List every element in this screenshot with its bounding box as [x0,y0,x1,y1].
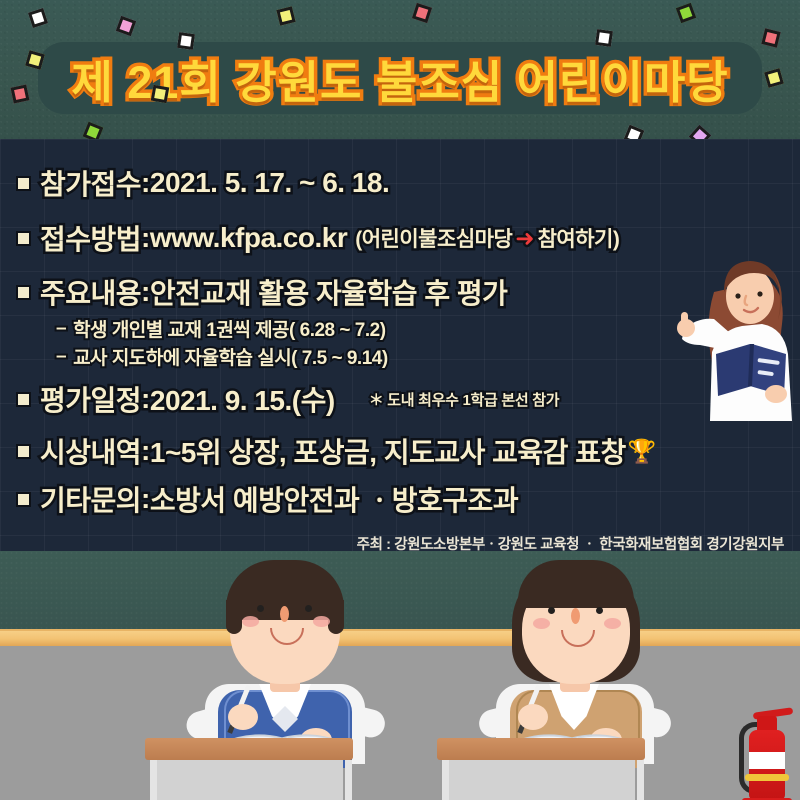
info-row-evaluation-date: 평가일정 : 2021. 9. 15.(수) ＊ 도내 최우수 1학급 본선 참… [18,379,559,419]
info-separator: : [141,383,150,415]
girl-desk-leg-left [442,760,449,800]
info-value: 2021. 5. 17. ~ 6. 18. [150,167,389,199]
square-bullet-icon [18,446,29,457]
boy-desk-top [145,738,353,760]
evaluation-note: ＊ 도내 최우수 1학급 본선 참가 [369,389,560,410]
boy-hair-side-right [328,600,344,634]
trophy-icon: 🏆 [628,438,657,465]
info-label: 참가접수 [40,163,141,203]
info-value: 1~5위 상장, 포상금, 지도교사 교육감 표창 [150,431,626,471]
info-value: 2021. 9. 15.(수) [150,379,335,419]
confetti-square [177,32,195,50]
boy-hair-side-left [226,600,242,634]
boy-eye-right [305,605,312,612]
teacher-illustration [676,246,800,421]
info-separator: : [141,222,150,254]
website-url[interactable]: www.kfpa.co.kr [150,222,347,254]
square-bullet-icon [18,233,29,244]
poster-root: 제 21회 강원도 불조심 어린이마당 참가접수 : 2021. 5. 17. … [0,0,800,800]
girl-eye-left [548,607,555,614]
classroom-wall [0,646,800,800]
info-value: 소방서 예방안전과 ㆍ방호구조과 [150,479,518,519]
info-row-how-to-apply: 접수방법 : www.kfpa.co.kr (어린이불조심마당 ➜ 참여하기) [18,218,619,258]
sub-item-row-1: – 학생 개인별 교재 1권씩 제공( 6.28 ~ 7.2) [56,315,386,342]
girl-desk-leg-right [637,760,644,800]
sub-item-text: 교사 지도하에 자율학습 실시( 7.5 ~ 9.14) [73,343,388,370]
sub-item-row-2: – 교사 지도하에 자율학습 실시( 7.5 ~ 9.14) [56,343,388,370]
girl-hand-left [518,704,548,730]
confetti-square [151,85,170,104]
arrow-right-icon: ➜ [512,225,537,252]
square-bullet-icon [18,178,29,189]
title-plate: 제 21회 강원도 불조심 어린이마당 [38,42,762,114]
info-label: 평가일정 [40,379,141,419]
info-row-main-content: 주요내용 : 안전교재 활용 자율학습 후 평가 [18,272,507,312]
info-separator: : [141,276,150,308]
confetti-square [11,85,30,104]
girl-desk-top [437,738,645,760]
extinguisher-yellow-band [745,774,789,781]
girl-eye-right [596,607,603,614]
dash-bullet-icon: – [56,318,66,340]
sub-item-text: 학생 개인별 교재 1권씩 제공( 6.28 ~ 7.2) [73,315,385,342]
girl-cheek-right [604,618,621,629]
paren-open-text: (어린이불조심마당 [355,223,512,253]
boy-cheek-right [313,616,330,627]
boy-nose [280,606,289,622]
boy-desk-leg-right [345,760,352,800]
info-row-awards: 시상내역 : 1~5위 상장, 포상금, 지도교사 교육감 표창 🏆 [18,431,656,471]
info-label: 주요내용 [40,272,141,312]
square-bullet-icon [18,494,29,505]
info-separator: : [141,435,150,467]
paren-close-text: 참여하기) [538,223,620,253]
teacher-svg [676,246,800,421]
confetti-square [595,29,613,47]
info-label: 시상내역 [40,431,141,471]
info-label: 기타문의 [40,479,141,519]
boy-cheek-left [242,616,259,627]
girl-desk-body [447,760,635,800]
dash-bullet-icon: – [56,346,66,368]
boy-desk-leg-left [150,760,157,800]
info-value: 안전교재 활용 자율학습 후 평가 [150,272,508,312]
info-separator: : [141,167,150,199]
info-separator: : [141,483,150,515]
info-row-contact: 기타문의 : 소방서 예방안전과 ㆍ방호구조과 [18,479,518,519]
girl-cheek-left [533,618,550,629]
square-bullet-icon [18,287,29,298]
boy-eye-left [257,605,264,612]
boy-desk-body [155,760,343,800]
chalkboard [0,551,800,634]
info-label: 접수방법 [40,218,141,258]
page-title: 제 21회 강원도 불조심 어린이마당 [38,42,762,114]
girl-bangs [518,560,634,608]
extinguisher-white-stripe [749,752,785,769]
girl-nose [571,608,580,624]
info-row-registration: 참가접수 : 2021. 5. 17. ~ 6. 18. [18,163,389,203]
boy-hand-left [228,704,258,730]
square-bullet-icon [18,394,29,405]
